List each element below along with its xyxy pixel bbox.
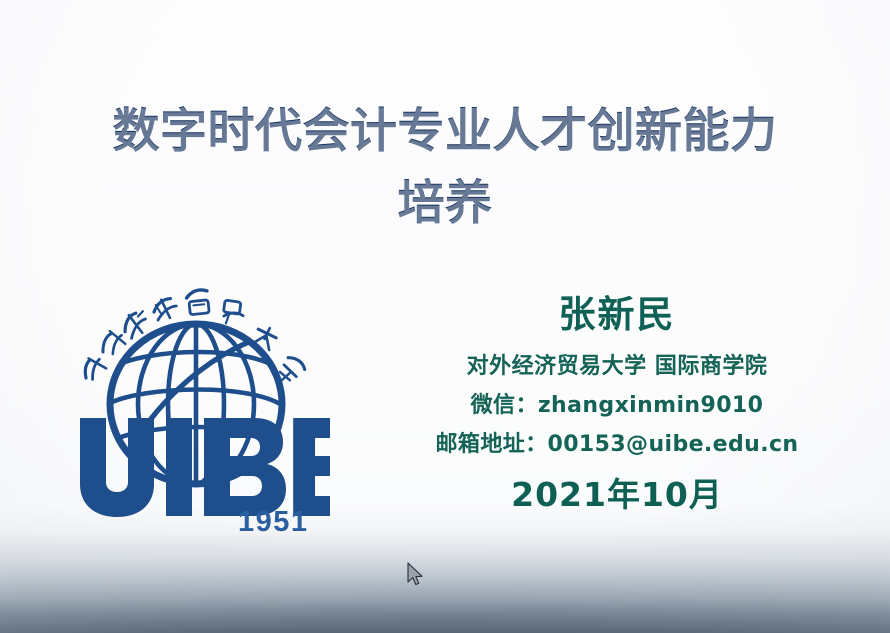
speaker-email: 邮箱地址：00153@uibe.edu.cn bbox=[372, 430, 862, 460]
uibe-logo: 1951 bbox=[62, 286, 330, 538]
logo-year: 1951 bbox=[238, 506, 309, 538]
title-line-1: 数字时代会计专业人才创新能力 bbox=[0, 96, 890, 168]
arrow-cursor bbox=[405, 561, 425, 589]
presentation-date: 2021年10月 bbox=[372, 474, 862, 516]
speaker-affiliation: 对外经济贸易大学 国际商学院 bbox=[372, 352, 862, 382]
speaker-wechat: 微信：zhangxinmin9010 bbox=[372, 391, 862, 421]
title-line-2: 培养 bbox=[0, 168, 890, 240]
presentation-slide: 数字时代会计专业人才创新能力 培养 bbox=[0, 0, 890, 633]
speaker-name: 张新民 bbox=[372, 292, 862, 338]
uibe-logo-graphic: 1951 bbox=[62, 286, 330, 538]
slide-title: 数字时代会计专业人才创新能力 培养 bbox=[0, 96, 890, 240]
speaker-info: 张新民 对外经济贸易大学 国际商学院 微信：zhangxinmin9010 邮箱… bbox=[372, 292, 862, 516]
